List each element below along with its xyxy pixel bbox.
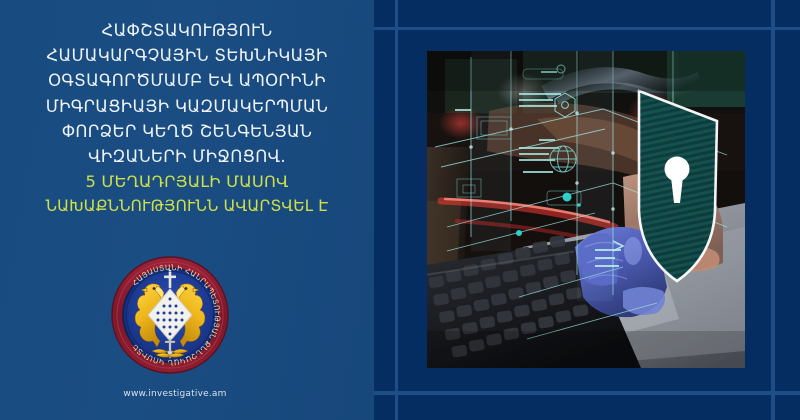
decorative-vertical-line-left [395, 0, 398, 420]
headline-line-4: ՄԻԳՐԱՑԻԱՅԻ ԿԱԶՄԱԿԵՐՊՄԱՆ [0, 94, 374, 119]
headline-line-5: ՓՈՐՁԵՐ ԿԵՂԾ ՇԵՆԳԵՆՅԱՆ [0, 119, 374, 144]
investigative-committee-emblem: ՀԱՅԱՍՏԱՆԻ ՀԱՆՐԱՊԵՏՈՒԹՅԱՆ ՔՆՆՉԱԿԱՆ ԿՈՄԻՏԵ [110, 255, 230, 375]
decorative-vertical-line-right [771, 0, 775, 420]
headline-line-7: 5 ՄԵՂԱԴՐՅԱԼԻ ՄԱՍՈՎ [0, 169, 374, 194]
headline-line-3: ՕԳՏԱԳՈՐԾՄԱՄԲ ԵՎ ԱՊՕՐԻՆԻ [0, 68, 374, 93]
poster-canvas: ՀԱՓՇՏԱԿՈՒԹՅՈՒՆ ՀԱՄԱԿԱՐԳՉԱՅԻՆ ՏԵԽՆԻԿԱՅԻ Օ… [0, 0, 800, 420]
cybersecurity-photo [427, 51, 745, 368]
decorative-horizontal-line-bottom [374, 391, 800, 395]
headline-line-6: ՎԻԶԱՆԵՐԻ ՄԻՋՈՑՈՎ. [0, 144, 374, 169]
website-url: www.investigative.am [0, 389, 350, 399]
headline-block: ՀԱՓՇՏԱԿՈՒԹՅՈՒՆ ՀԱՄԱԿԱՐԳՉԱՅԻՆ ՏԵԽՆԻԿԱՅԻ Օ… [0, 18, 374, 220]
headline-line-2: ՀԱՄԱԿԱՐԳՉԱՅԻՆ ՏԵԽՆԻԿԱՅԻ [0, 43, 374, 68]
decorative-horizontal-line-top [374, 27, 800, 30]
headline-line-1: ՀԱՓՇՏԱԿՈՒԹՅՈՒՆ [0, 18, 374, 43]
headline-line-8: ՆԱԽԱՔՆՆՈՒԹՅՈՒՆՆ ԱՎԱՐՏՎԵԼ Է [0, 194, 374, 219]
